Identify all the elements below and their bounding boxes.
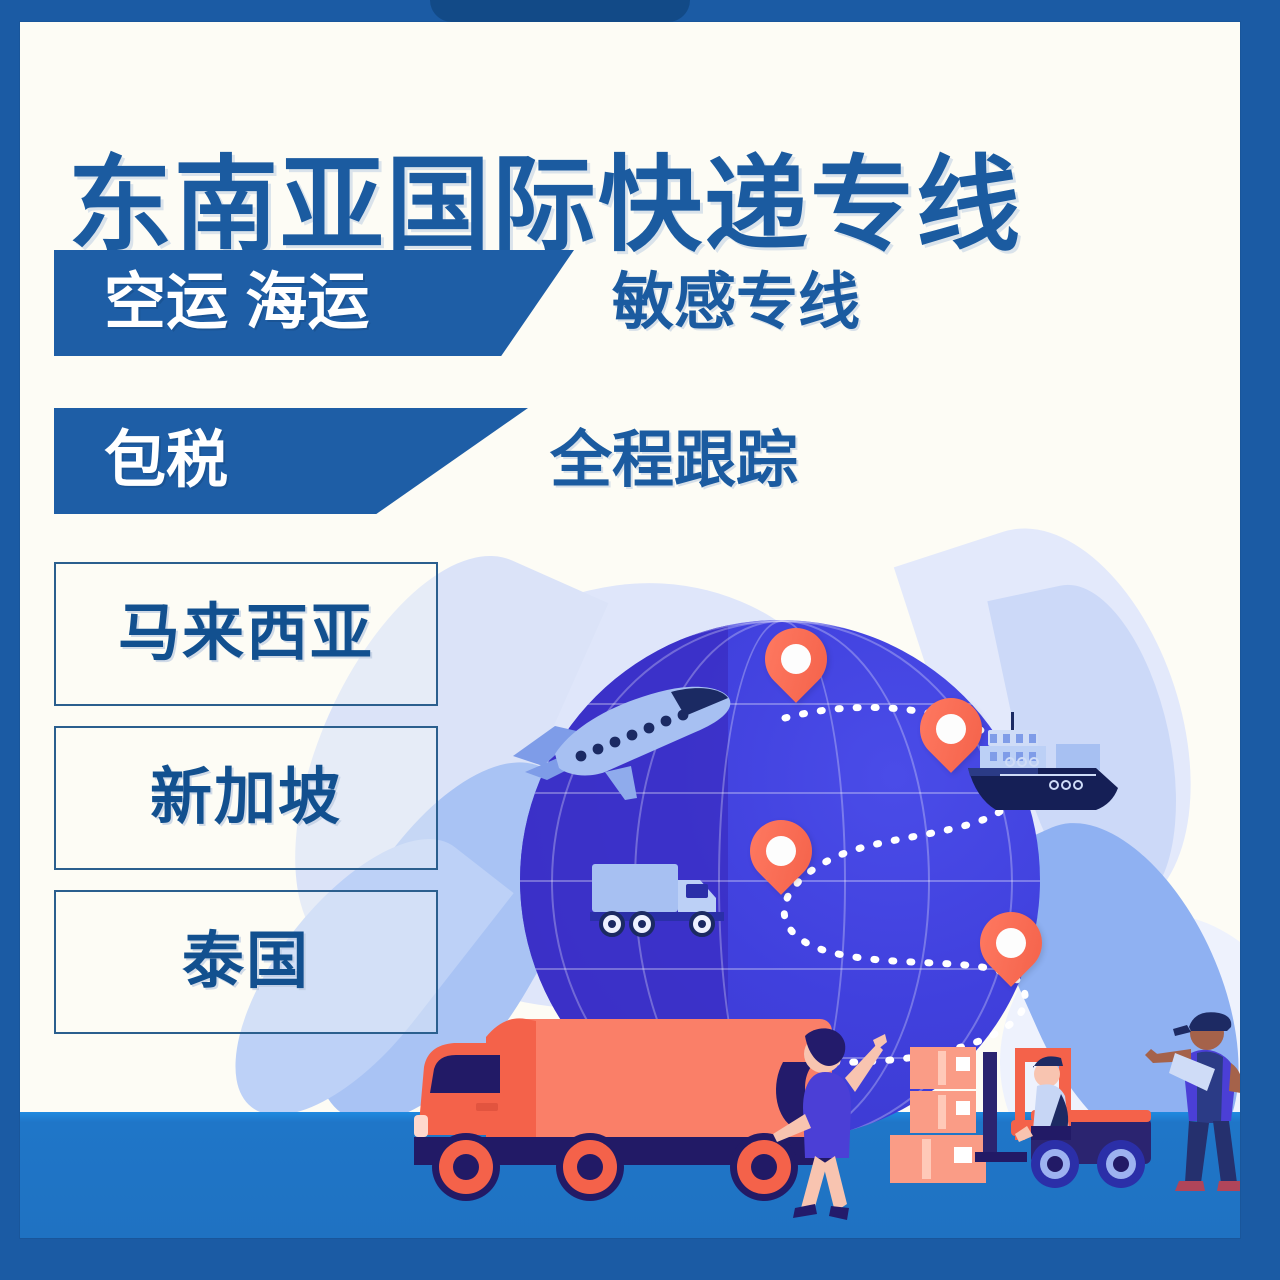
country-box-singapore[interactable]: 新加坡 <box>54 726 438 870</box>
top-notch-decoration <box>430 0 690 22</box>
cargo-ship-icon <box>950 712 1135 822</box>
feature-subtitle-sensitive-line: 敏感专线 <box>612 272 860 334</box>
country-label: 马来西亚 <box>118 603 374 665</box>
country-box-thailand[interactable]: 泰国 <box>54 890 438 1034</box>
country-label: 新加坡 <box>150 767 342 829</box>
country-list: 马来西亚 新加坡 泰国 <box>54 562 438 1054</box>
page-title: 东南亚国际快递专线 <box>68 154 1022 258</box>
airplane-icon <box>485 668 745 808</box>
globe-truck-icon <box>590 860 735 940</box>
feature-row-2: 包税 全程跟踪 <box>54 408 798 514</box>
globe-illustration <box>520 620 1040 1140</box>
feature-tag-tax-included: 包税 <box>54 408 528 514</box>
feature-row-1: 空运 海运 敏感专线 <box>54 250 860 356</box>
poster-inner-frame: 东南亚国际快递专线 空运 海运 敏感专线 包税 全程跟踪 马来西亚 新加坡 泰国 <box>20 22 1240 1238</box>
feature-tag-shipping-modes: 空运 海运 <box>54 250 574 356</box>
country-label: 泰国 <box>182 931 310 993</box>
country-box-malaysia[interactable]: 马来西亚 <box>54 562 438 706</box>
poster-canvas: 东南亚国际快递专线 空运 海运 敏感专线 包税 全程跟踪 马来西亚 新加坡 泰国 <box>0 0 1280 1280</box>
feature-subtitle-full-tracking: 全程跟踪 <box>550 430 798 492</box>
